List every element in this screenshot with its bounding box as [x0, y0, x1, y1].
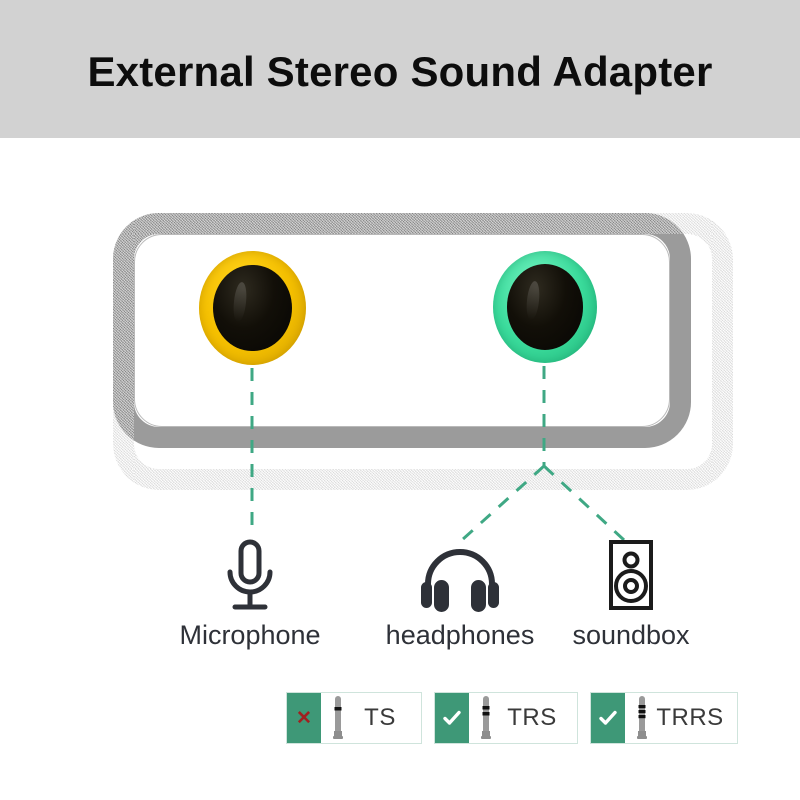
headphones-icon: [414, 538, 506, 614]
plug-compatibility-legend: ✕ TS: [286, 692, 738, 744]
legend-item-trrs[interactable]: TRRS: [590, 692, 738, 744]
legend-label-trs: TRS: [495, 704, 577, 732]
infographic-page: External Stereo Sound Adapter Mic: [0, 0, 800, 800]
status-badge-supported: [591, 693, 625, 743]
port-gloss: [232, 281, 249, 322]
status-badge-unsupported: ✕: [287, 693, 321, 743]
feature-label-microphone: Microphone: [170, 620, 330, 651]
audio-output-port-hole: [507, 264, 583, 349]
legend-item-trs[interactable]: TRS: [434, 692, 578, 744]
check-icon: [598, 708, 618, 728]
jack-plug-icon: [329, 695, 347, 741]
microphone-port-hole: [213, 265, 291, 352]
cross-icon: ✕: [296, 709, 312, 728]
port-gloss: [525, 281, 541, 321]
feature-microphone: Microphone: [170, 538, 330, 651]
jack-plug-icon: [477, 695, 495, 741]
check-icon: [442, 708, 462, 728]
audio-output-port[interactable]: [493, 251, 597, 363]
legend-item-body: TRRS: [625, 693, 737, 743]
speaker-icon: [603, 538, 659, 614]
legend-item-body: TS: [321, 693, 421, 743]
legend-label-trrs: TRRS: [651, 704, 737, 732]
microphone-icon: [214, 538, 286, 614]
feature-label-soundbox: soundbox: [562, 620, 700, 651]
jack-plug-icon: [633, 695, 651, 741]
feature-label-headphones: headphones: [378, 620, 542, 651]
feature-headphones: headphones: [378, 538, 542, 651]
microphone-port[interactable]: [199, 251, 306, 365]
legend-item-ts[interactable]: ✕ TS: [286, 692, 422, 744]
legend-label-ts: TS: [347, 704, 421, 732]
page-title: External Stereo Sound Adapter: [0, 48, 800, 96]
feature-soundbox: soundbox: [562, 538, 700, 651]
legend-item-body: TRS: [469, 693, 577, 743]
status-badge-supported: [435, 693, 469, 743]
